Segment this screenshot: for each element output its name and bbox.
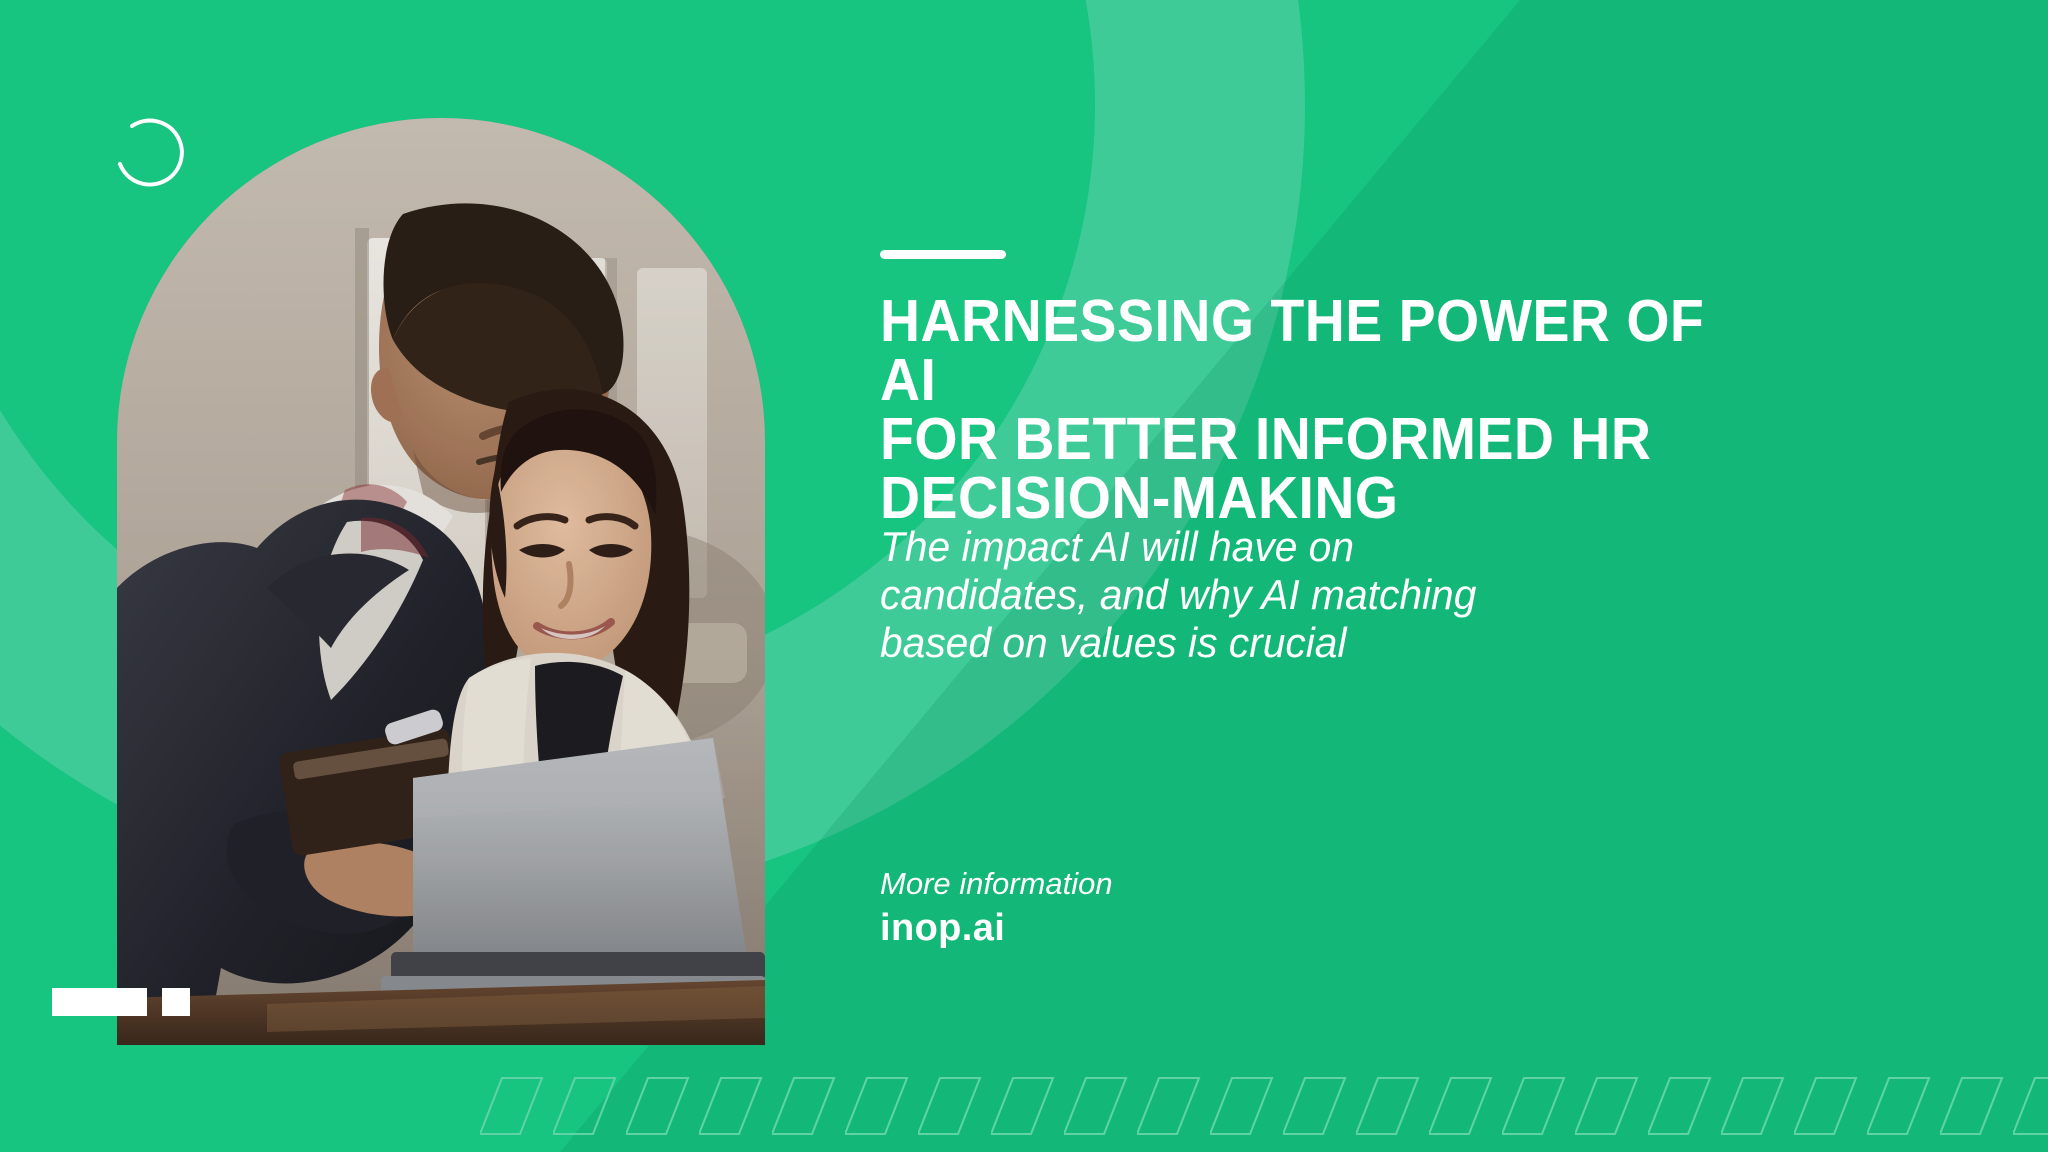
subhead-line-1: The impact AI will have on [880,523,1656,571]
subhead-line-3: based on values is crucial [880,619,1656,667]
accent-rule [880,250,1006,259]
cta-link[interactable]: inop.ai [880,908,1113,950]
text-column: HARNESSING THE POWER OF AI FOR BETTER IN… [880,0,1780,1152]
headline-line-3: DECISION-MAKING [880,469,1707,528]
headline-line-1: HARNESSING THE POWER OF AI [880,292,1707,410]
cta-label: More information [880,865,1113,902]
dash-long-icon [52,988,147,1016]
dash-marks [52,988,190,1016]
hero-photo [117,118,765,1045]
subhead-line-2: candidates, and why AI matching [880,571,1656,619]
dash-short-icon [162,988,190,1016]
banner-canvas: HARNESSING THE POWER OF AI FOR BETTER IN… [0,0,2048,1152]
headline-line-2: FOR BETTER INFORMED HR [880,410,1707,469]
page-title: HARNESSING THE POWER OF AI FOR BETTER IN… [880,292,1707,528]
cta-block: More information inop.ai [880,865,1113,950]
page-subtitle: The impact AI will have on candidates, a… [880,523,1656,667]
open-circle-icon [108,108,194,194]
